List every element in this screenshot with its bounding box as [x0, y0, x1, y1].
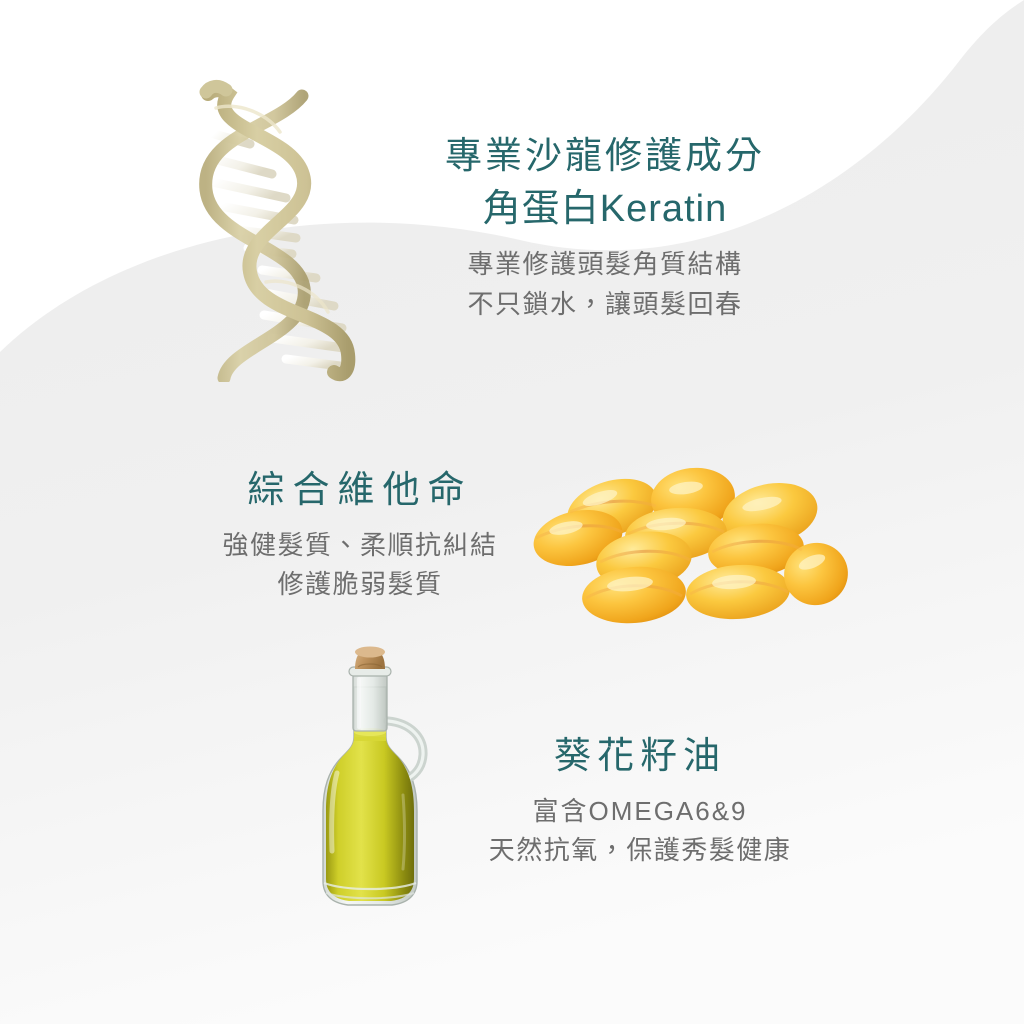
- softgel-capsules-icon: [516, 462, 876, 628]
- oil-bottle-icon: [306, 645, 434, 920]
- keratin-body-line-1: 專業修護頭髮角質結構: [400, 245, 810, 285]
- sunflower-body-line-2: 天然抗氧，保護秀髮健康: [430, 831, 850, 871]
- vitamin-body: 強健髮質、柔順抗糾結 修護脆弱髮質: [160, 526, 560, 605]
- section-keratin: 專業沙龍修護成分 角蛋白Keratin 專業修護頭髮角質結構 不只鎖水，讓頭髮回…: [400, 134, 810, 325]
- dna-helix-icon: [176, 72, 391, 382]
- vitamin-heading: 綜合維他命: [160, 468, 560, 512]
- keratin-heading: 專業沙龍修護成分: [400, 134, 810, 178]
- section-vitamin: 綜合維他命 強健髮質、柔順抗糾結 修護脆弱髮質: [160, 468, 560, 605]
- vitamin-body-line-2: 修護脆弱髮質: [160, 565, 560, 605]
- ingredient-infographic-poster: 專業沙龍修護成分 角蛋白Keratin 專業修護頭髮角質結構 不只鎖水，讓頭髮回…: [0, 0, 1024, 1024]
- sunflower-body: 富含OMEGA6&9 天然抗氧，保護秀髮健康: [430, 792, 850, 871]
- keratin-body: 專業修護頭髮角質結構 不只鎖水，讓頭髮回春: [400, 245, 810, 324]
- sunflower-heading: 葵花籽油: [430, 734, 850, 778]
- keratin-body-line-2: 不只鎖水，讓頭髮回春: [400, 285, 810, 325]
- vitamin-body-line-1: 強健髮質、柔順抗糾結: [160, 526, 560, 566]
- sunflower-body-line-1: 富含OMEGA6&9: [430, 792, 850, 832]
- section-sunflower-oil: 葵花籽油 富含OMEGA6&9 天然抗氧，保護秀髮健康: [430, 734, 850, 871]
- keratin-subheading: 角蛋白Keratin: [400, 187, 810, 232]
